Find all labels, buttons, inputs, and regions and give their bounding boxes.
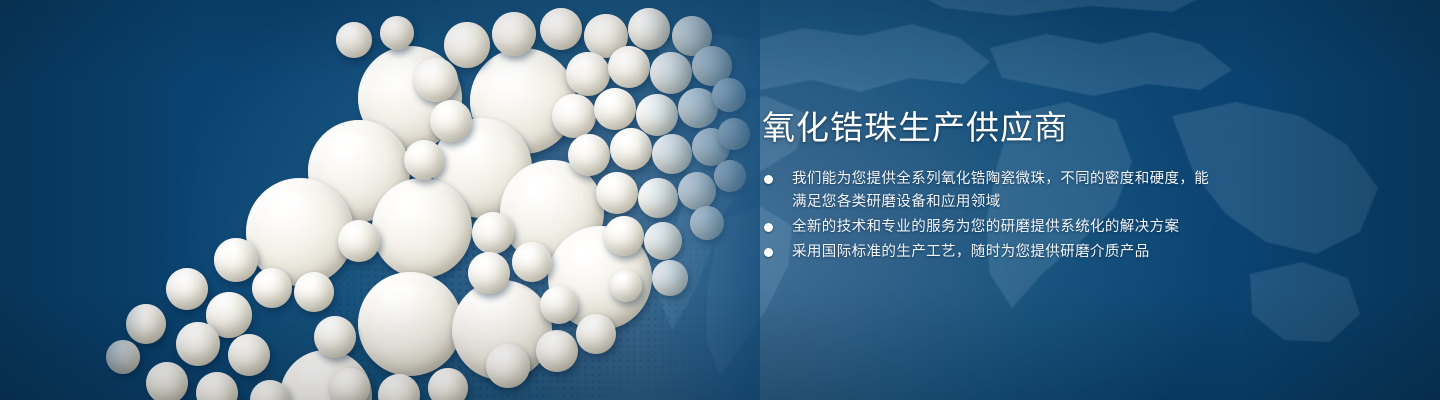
list-item-label: 全新的技术和专业的服务为您的研磨提供系统化的解决方案 xyxy=(792,216,1222,239)
feature-list: 我们能为您提供全系列氧化锆陶瓷微珠，不同的密度和硬度，能满足您各类研磨设备和应用… xyxy=(762,168,1222,266)
hero-banner: 氧化锆珠生产供应商 我们能为您提供全系列氧化锆陶瓷微珠，不同的密度和硬度，能满足… xyxy=(0,0,1440,400)
bullet-dot-icon xyxy=(764,248,773,257)
list-item: 全新的技术和专业的服务为您的研磨提供系统化的解决方案 xyxy=(762,216,1222,239)
banner-content: 氧化锆珠生产供应商 我们能为您提供全系列氧化锆陶瓷微珠，不同的密度和硬度，能满足… xyxy=(762,0,1282,400)
list-item: 我们能为您提供全系列氧化锆陶瓷微珠，不同的密度和硬度，能满足您各类研磨设备和应用… xyxy=(762,168,1222,214)
list-item: 采用国际标准的生产工艺，随时为您提供研磨介质产品 xyxy=(762,241,1222,264)
bullet-dot-icon xyxy=(764,175,773,184)
list-item-label: 采用国际标准的生产工艺，随时为您提供研磨介质产品 xyxy=(792,241,1222,264)
list-item-label: 我们能为您提供全系列氧化锆陶瓷微珠，不同的密度和硬度，能满足您各类研磨设备和应用… xyxy=(792,168,1222,214)
page-title: 氧化锆珠生产供应商 xyxy=(762,108,1068,148)
bullet-dot-icon xyxy=(764,223,773,232)
